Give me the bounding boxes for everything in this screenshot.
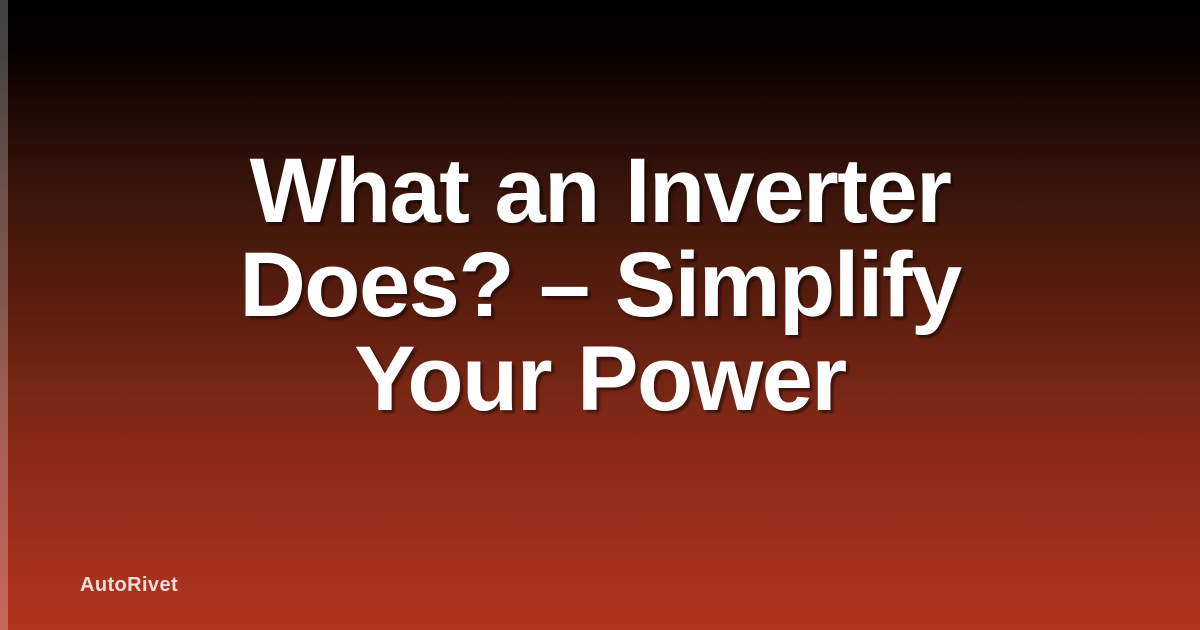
social-share-card: What an Inverter Does? – Simplify Your P… [0,0,1200,630]
page-title: What an Inverter Does? – Simplify Your P… [100,144,1100,426]
brand-logo-text: AutoRivet [80,574,178,597]
headline-container: What an Inverter Does? – Simplify Your P… [0,0,1200,630]
